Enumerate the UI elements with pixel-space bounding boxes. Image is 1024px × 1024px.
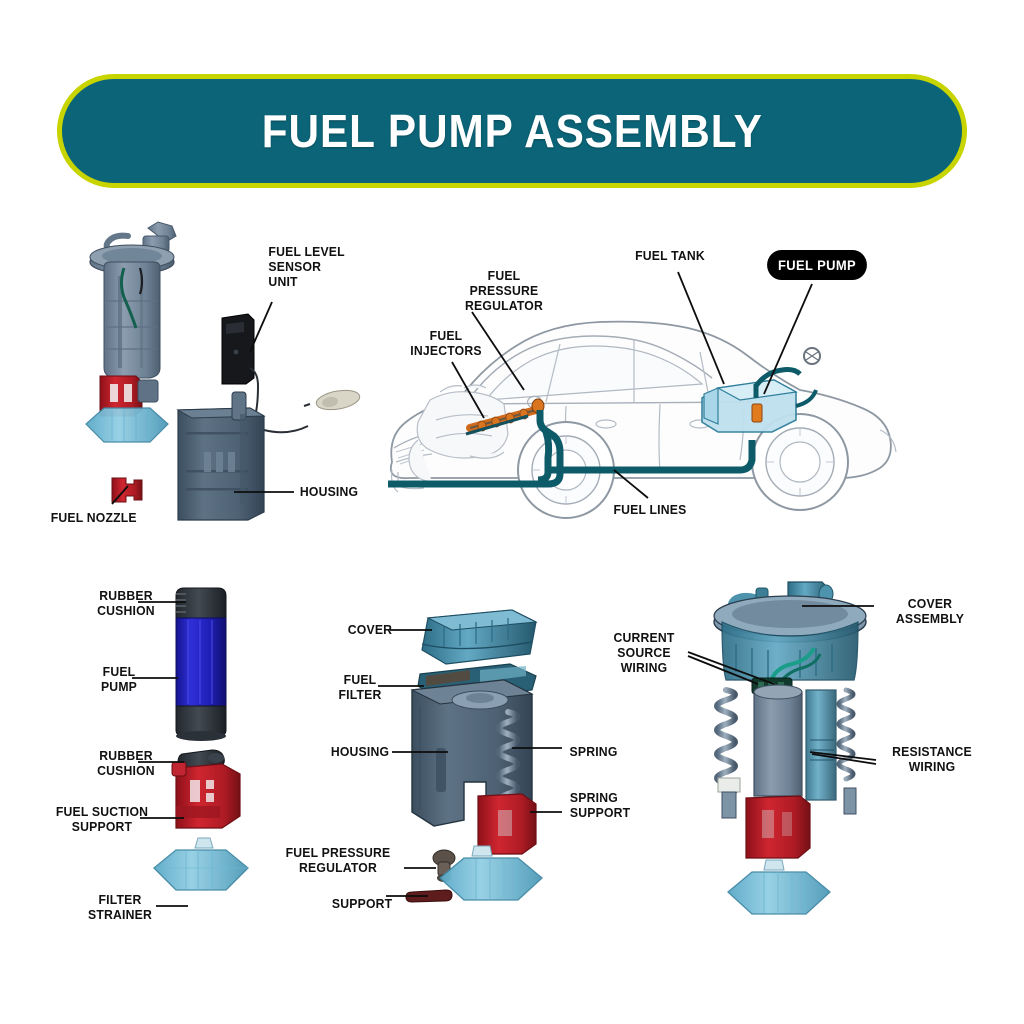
label-rubber-cushion-bottom: RUBBER CUSHION bbox=[79, 748, 173, 778]
art-leaders-bottom bbox=[132, 602, 876, 906]
label-housing-top: HOUSING bbox=[300, 484, 358, 499]
label-cover: COVER bbox=[342, 622, 398, 637]
label-fuel-filter: FUEL FILTER bbox=[332, 672, 388, 702]
label-fuel-lines: FUEL LINES bbox=[603, 502, 697, 517]
label-filter-strainer: FILTER STRAINER bbox=[75, 892, 165, 922]
label-spring: SPRING bbox=[570, 744, 618, 759]
diagram-canvas: FUEL PUMP ASSEMBLY bbox=[0, 0, 1024, 1024]
label-current-source-wiring: CURRENT SOURCE WIRING bbox=[603, 630, 686, 675]
art-bottom-left bbox=[154, 588, 248, 890]
label-resistance-wiring: RESISTANCE WIRING bbox=[883, 744, 981, 774]
label-fuel-level-sensor-unit: FUEL LEVEL SENSOR UNIT bbox=[268, 244, 344, 289]
label-fuel-nozzle: FUEL NOZZLE bbox=[51, 510, 137, 525]
label-cover-assembly: COVER ASSEMBLY bbox=[887, 596, 973, 626]
label-housing-center: HOUSING bbox=[324, 744, 395, 759]
page-title: FUEL PUMP ASSEMBLY bbox=[262, 104, 763, 158]
art-bottom-right bbox=[714, 582, 866, 914]
label-fuel-pressure-regulator-car: FUEL PRESSURE REGULATOR bbox=[451, 268, 556, 313]
label-spring-support: SPRING SUPPORT bbox=[570, 790, 630, 820]
header-banner: FUEL PUMP ASSEMBLY bbox=[57, 74, 967, 188]
label-fuel-pump-cartridge: FUEL PUMP bbox=[79, 664, 160, 694]
label-fuel-pressure-regulator-center: FUEL PRESSURE REGULATOR bbox=[276, 845, 400, 875]
label-fuel-injectors: FUEL INJECTORS bbox=[399, 328, 493, 358]
label-fuel-tank: FUEL TANK bbox=[623, 248, 717, 263]
art-bottom-center bbox=[406, 610, 542, 902]
label-rubber-cushion-top: RUBBER CUSHION bbox=[79, 588, 173, 618]
art-car-fuel-system bbox=[388, 370, 816, 485]
label-support: SUPPORT bbox=[332, 896, 392, 911]
label-fuel-suction-support: FUEL SUCTION SUPPORT bbox=[44, 804, 161, 834]
label-fuel-pump-badge: FUEL PUMP bbox=[767, 250, 867, 280]
